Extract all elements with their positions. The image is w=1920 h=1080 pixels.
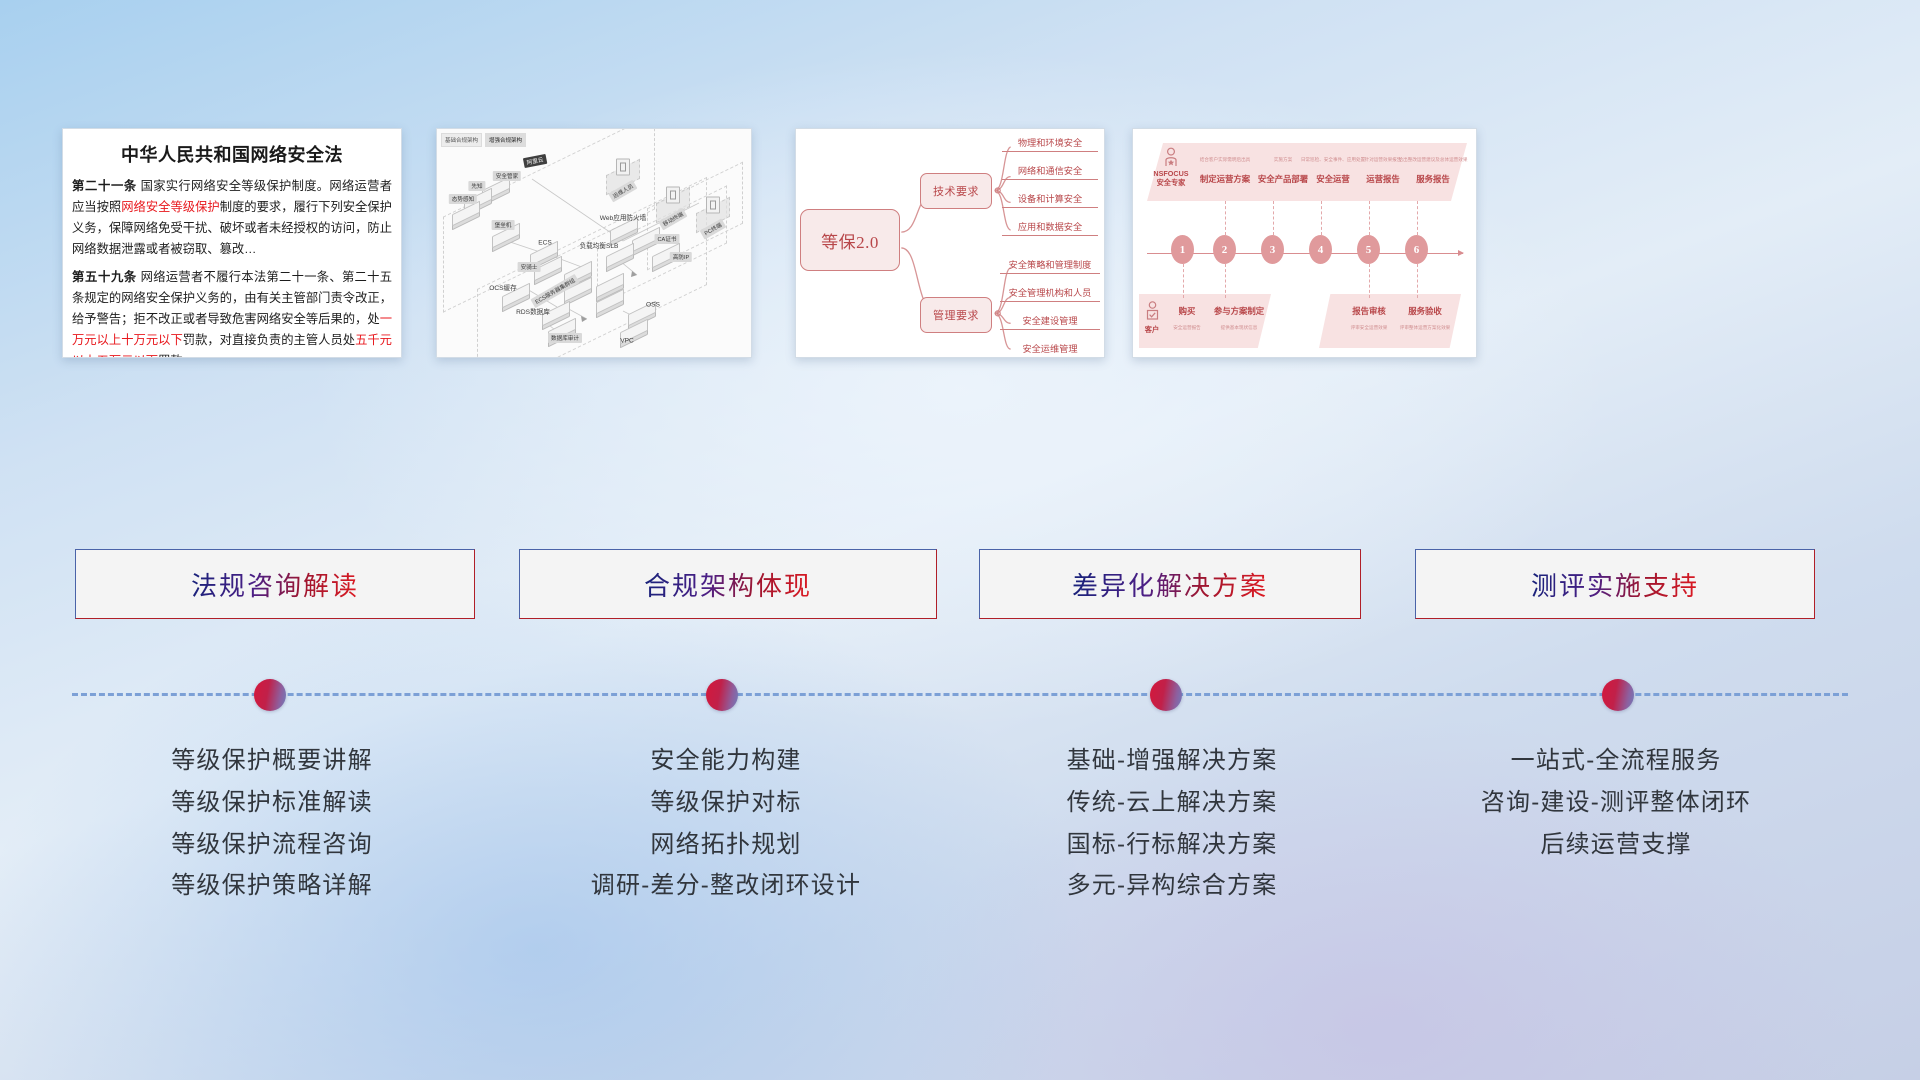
timeline-rail: [72, 693, 1848, 696]
roadmap-customer-sub-3: 评审安全运营效果: [1351, 325, 1388, 331]
mindmap-leaf-device-compute: 设备和计算安全: [1002, 191, 1098, 208]
roadmap-connector-3: [1273, 201, 1274, 235]
roadmap-connector-c3: [1369, 264, 1370, 298]
list-regulation-consulting: 等级保护概要讲解 等级保护标准解读 等级保护流程咨询 等级保护策略详解: [171, 740, 373, 907]
timeline-node-2[interactable]: [706, 679, 738, 711]
mindmap-branch-technical: 技术要求: [920, 173, 992, 209]
roadmap-step-4: 4: [1309, 235, 1332, 264]
timeline-node-1[interactable]: [254, 679, 286, 711]
roadmap-label-4: 安全运营: [1316, 173, 1350, 185]
list-item: 后续运营支撑: [1481, 824, 1751, 866]
law-article-21: 第二十一条 国家实行网络安全等级保护制度。网络运营者应当按照网络安全等级保护制度…: [72, 176, 392, 261]
customer-person-icon: [1145, 301, 1160, 323]
roadmap-customer-label-4: 服务验收: [1408, 305, 1442, 317]
roadmap-step-5: 5: [1357, 235, 1380, 264]
mindmap: 等保2.0 技术要求 管理要求 物理和环境安全 网络和通信安全 设备和计算安全 …: [796, 129, 1104, 357]
roadmap-label-6: 服务报告: [1416, 173, 1450, 185]
list-item: 一站式-全流程服务: [1481, 740, 1751, 782]
list-item: 安全能力构建: [591, 740, 861, 782]
roadmap: NSFOCUS 安全专家 结合客户实际需明后出具 制定运营方案 实施方案 安全产…: [1133, 129, 1476, 357]
mindmap-leaf-physical-env: 物理和环境安全: [1002, 135, 1098, 152]
roadmap-customer-sub-4: 评审整体运营方案化效果: [1400, 325, 1451, 331]
roadmap-customer-label-1: 购买: [1179, 305, 1196, 317]
list-item: 基础-增强解决方案: [1067, 740, 1278, 782]
list-item: 传统-云上解决方案: [1067, 782, 1278, 824]
mindmap-leaf-org-personnel: 安全管理机构和人员: [1000, 285, 1100, 302]
roadmap-connector-c4: [1417, 264, 1418, 298]
roadmap-customer-label-3: 报告审核: [1352, 305, 1386, 317]
law-article-21-label: 第二十一条: [72, 179, 137, 193]
law-article-59-label: 第五十九条: [72, 270, 137, 284]
roadmap-sub-3: 实施方案: [1274, 157, 1292, 163]
law-article-59-text-c: 罚款。: [158, 354, 195, 358]
mindmap-leaf-network-comm: 网络和通信安全: [1002, 163, 1098, 180]
list-compliance-architecture: 安全能力构建 等级保护对标 网络拓扑规划 调研-差分-整改闭环设计: [591, 740, 861, 907]
list-item: 等级保护概要讲解: [171, 740, 373, 782]
roadmap-label-5: 运营报告: [1366, 173, 1400, 185]
banner-label-1: 法规咨询解读: [191, 566, 359, 603]
list-item: 等级保护对标: [591, 782, 861, 824]
roadmap-customer-sub-1: 安全运营报告: [1173, 325, 1201, 331]
banner-regulation-consulting[interactable]: 法规咨询解读: [75, 549, 475, 619]
roadmap-label-3: 安全产品部署: [1258, 173, 1308, 185]
list-item: 等级保护标准解读: [171, 782, 373, 824]
list-assessment-support: 一站式-全流程服务 咨询-建设-测评整体闭环 后续运营支撑: [1481, 740, 1751, 865]
roadmap-connector-2: [1225, 201, 1226, 235]
roadmap-band-provider: [1147, 143, 1467, 201]
roadmap-label-2: 制定运营方案: [1200, 173, 1250, 185]
banner-assessment-support[interactable]: 测评实施支持: [1415, 549, 1815, 619]
list-item: 调研-差分-整改闭环设计: [591, 865, 861, 907]
list-item: 咨询-建设-测评整体闭环: [1481, 782, 1751, 824]
roadmap-sub-2: 结合客户实际需明后出具: [1200, 157, 1251, 163]
persona-provider: NSFOCUS 安全专家: [1153, 169, 1188, 187]
roadmap-sub-5: 针对运营效果报告: [1365, 157, 1402, 163]
banner-label-3: 差异化解决方案: [1072, 566, 1268, 603]
slide-canvas: 中华人民共和国网络安全法 第二十一条 国家实行网络安全等级保护制度。网络运营者应…: [0, 0, 1920, 1080]
law-article-59-text-b: 罚款，对直接负责的主管人员处: [183, 333, 355, 347]
timeline-node-3[interactable]: [1150, 679, 1182, 711]
roadmap-customer-label-2: 参与方案制定: [1214, 305, 1264, 317]
roadmap-connector-4: [1321, 201, 1322, 235]
roadmap-band-customer-right: [1319, 294, 1461, 348]
list-item: 多元-异构综合方案: [1067, 865, 1278, 907]
mindmap-leaf-construction-mgmt: 安全建设管理: [1000, 313, 1100, 330]
card-cybersecurity-law: 中华人民共和国网络安全法 第二十一条 国家实行网络安全等级保护制度。网络运营者应…: [62, 128, 402, 358]
architecture-diagram: 基础合规架构 增强合规架构: [437, 129, 751, 357]
card-mindmap-dengbao: 等保2.0 技术要求 管理要求 物理和环境安全 网络和通信安全 设备和计算安全 …: [795, 128, 1105, 358]
list-item: 网络拓扑规划: [591, 824, 861, 866]
roadmap-customer-sub-2: 提供基本现状信息: [1221, 325, 1258, 331]
law-article-21-highlight: 网络安全等级保护: [121, 200, 219, 214]
roadmap-step-1: 1: [1171, 235, 1194, 264]
list-item: 国标-行标解决方案: [1067, 824, 1278, 866]
roadmap-connector-c1: [1183, 264, 1184, 298]
list-item: 等级保护流程咨询: [171, 824, 373, 866]
roadmap-connector-5: [1369, 201, 1370, 235]
roadmap-step-3: 3: [1261, 235, 1284, 264]
banner-compliance-architecture[interactable]: 合规架构体现: [519, 549, 937, 619]
roadmap-sub-4: 日常巡检、安全事件、应用处置: [1301, 157, 1365, 163]
mindmap-branch-management: 管理要求: [920, 297, 992, 333]
roadmap-connector-6: [1417, 201, 1418, 235]
mindmap-leaf-ops-mgmt: 安全运维管理: [1000, 341, 1100, 358]
mindmap-root: 等保2.0: [800, 209, 900, 271]
timeline-node-4[interactable]: [1602, 679, 1634, 711]
mindmap-leaf-app-data: 应用和数据安全: [1002, 219, 1098, 236]
roadmap-step-2: 2: [1213, 235, 1236, 264]
law-article-59: 第五十九条 网络运营者不履行本法第二十一条、第二十五条规定的网络安全保护义务的，…: [72, 267, 392, 358]
banner-differentiated-solution[interactable]: 差异化解决方案: [979, 549, 1361, 619]
persona-customer: 客户: [1145, 325, 1159, 334]
roadmap-sub-6: 给出整改运营建议及总体运营效果: [1399, 157, 1468, 163]
card-cloud-architecture: 基础合规架构 增强合规架构: [436, 128, 752, 358]
law-body: 第二十一条 国家实行网络安全等级保护制度。网络运营者应当按照网络安全等级保护制度…: [63, 176, 401, 358]
banner-label-4: 测评实施支持: [1531, 566, 1699, 603]
mindmap-leaf-policy-system: 安全策略和管理制度: [1000, 257, 1100, 274]
banner-label-2: 合规架构体现: [644, 566, 812, 603]
list-item: 等级保护策略详解: [171, 865, 373, 907]
card-service-roadmap: NSFOCUS 安全专家 结合客户实际需明后出具 制定运营方案 实施方案 安全产…: [1132, 128, 1477, 358]
law-title: 中华人民共和国网络安全法: [63, 141, 401, 167]
roadmap-connector-c2: [1225, 264, 1226, 298]
list-differentiated-solution: 基础-增强解决方案 传统-云上解决方案 国标-行标解决方案 多元-异构综合方案: [1067, 740, 1278, 907]
roadmap-step-6: 6: [1405, 235, 1428, 264]
expert-person-icon: [1163, 147, 1179, 167]
